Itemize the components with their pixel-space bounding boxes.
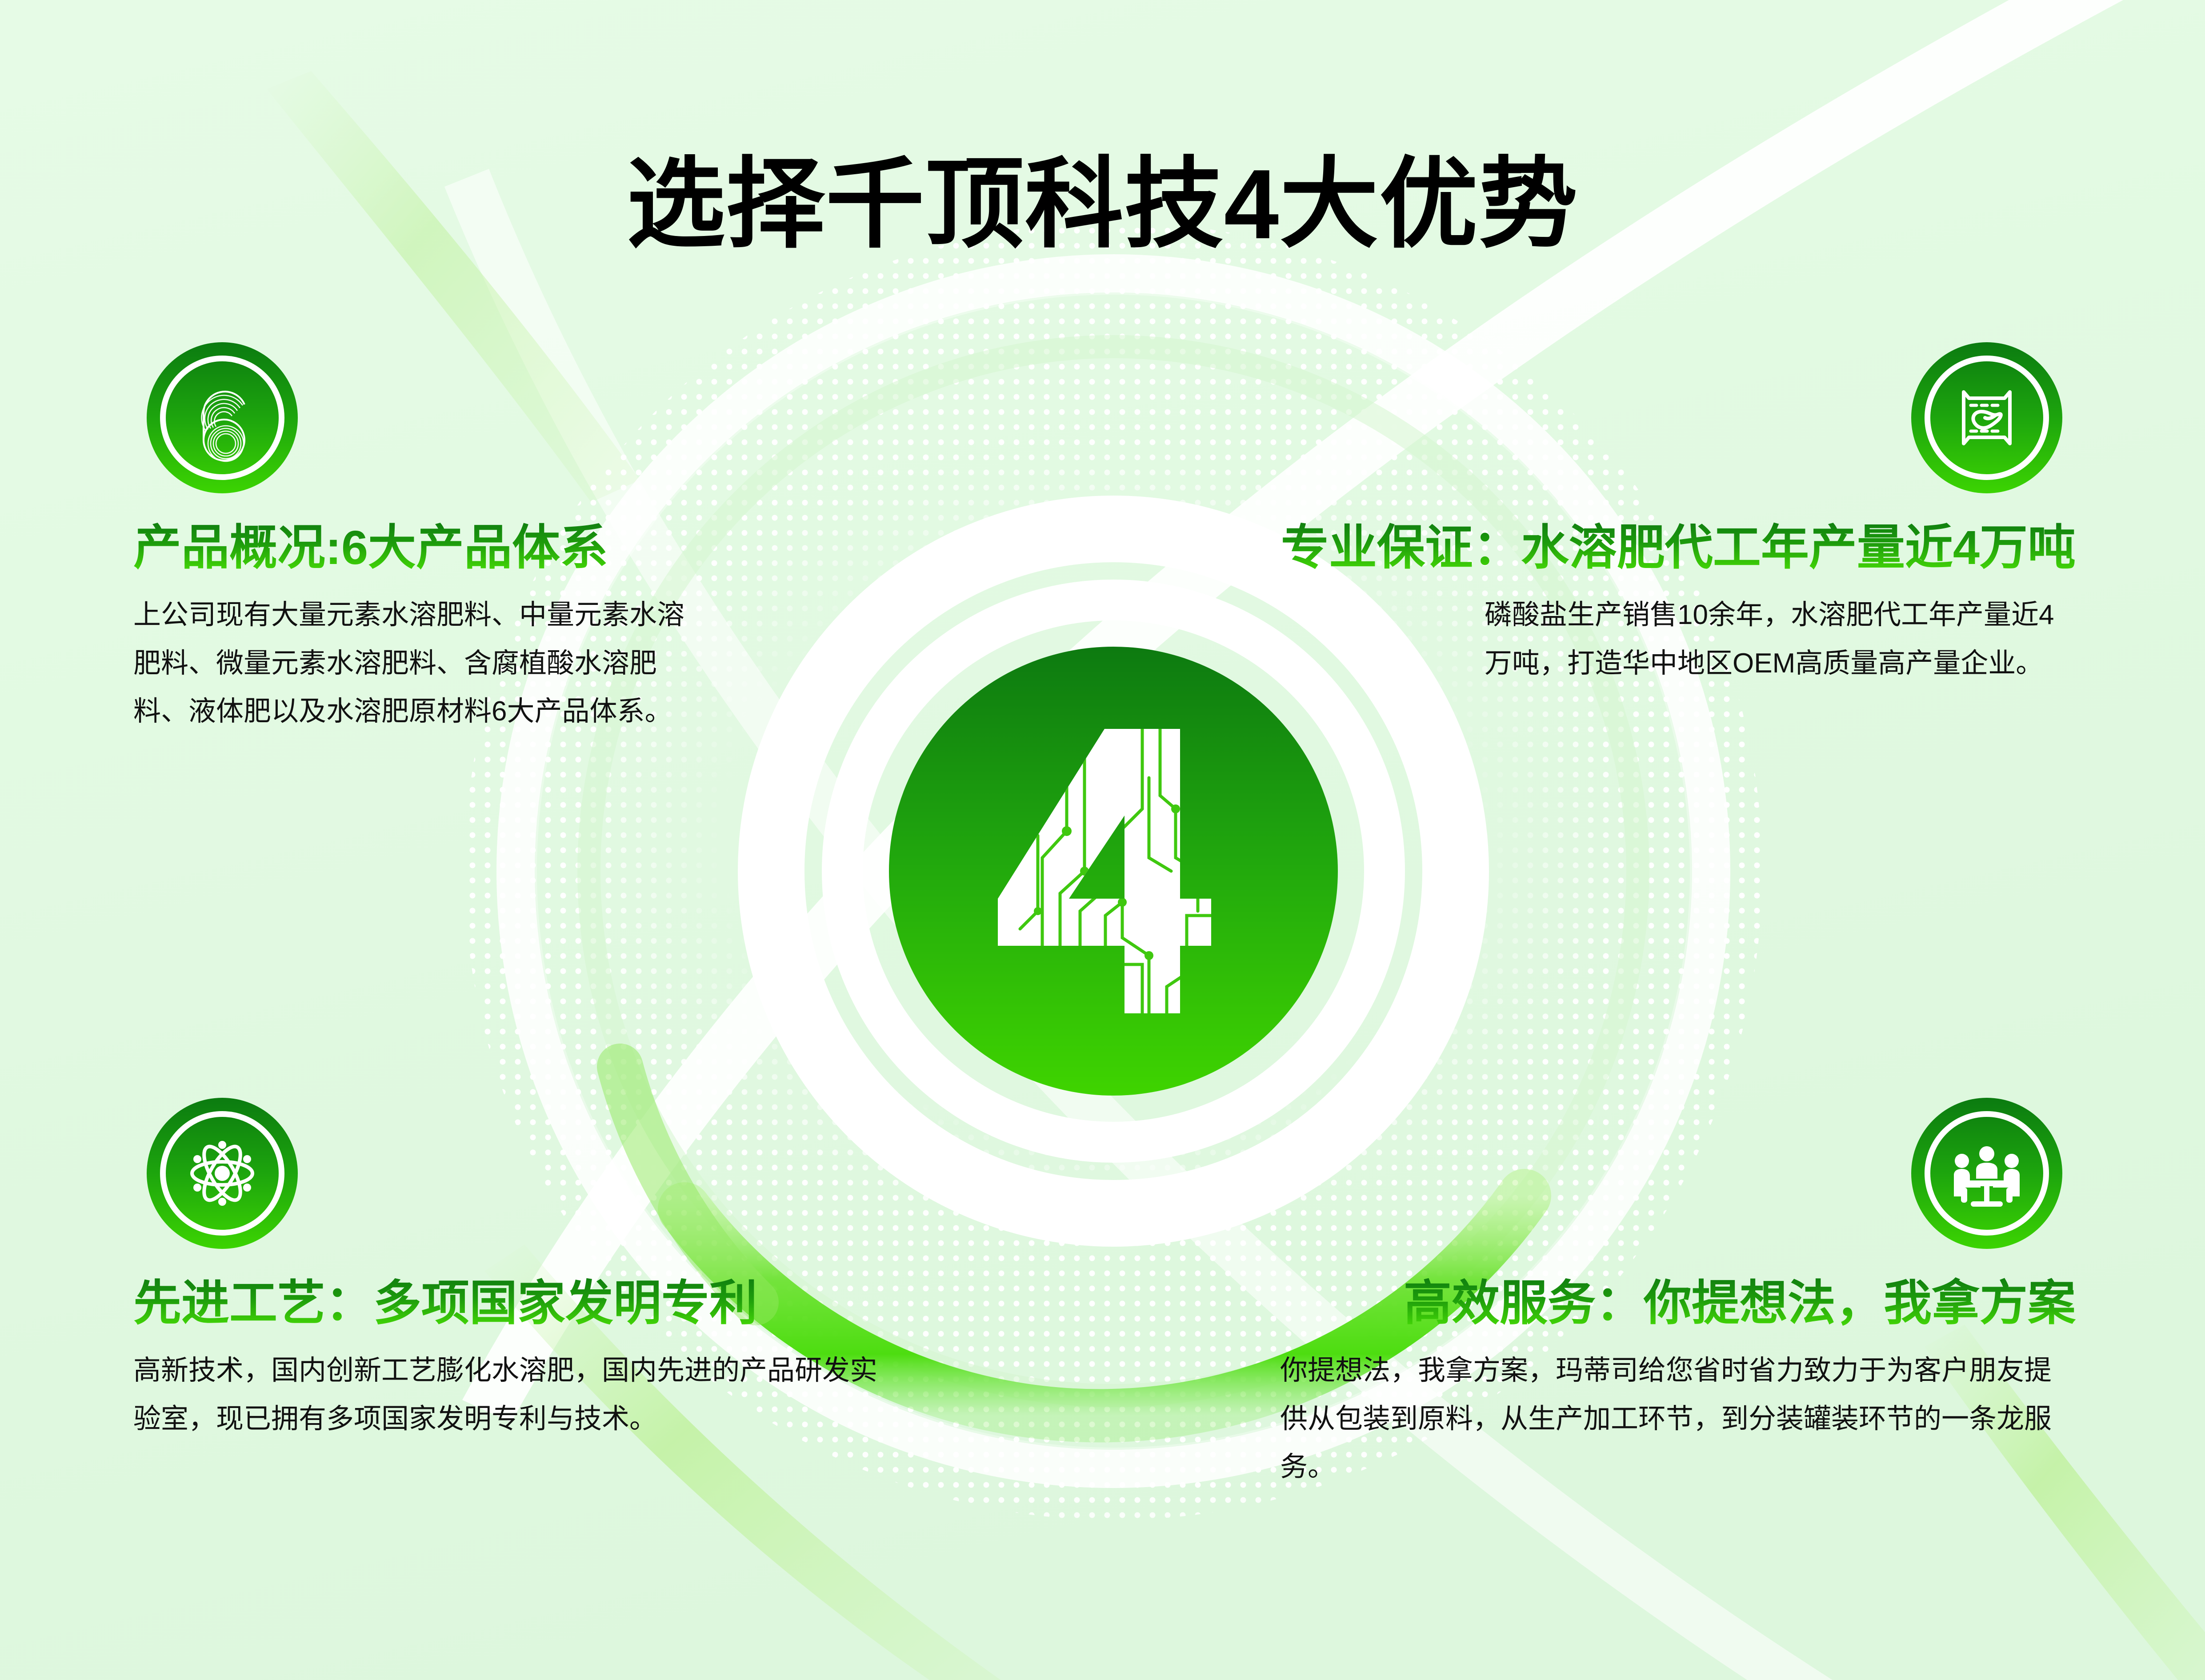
advantage-card-top-right: 专业保证：水溶肥代工年产量近4万吨 磷酸盐生产销售10余年，水溶肥代工年产量近4… <box>1191 342 2076 688</box>
advantage-card-bottom-left: 先进工艺：多项国家发明专利 高新技术，国内创新工艺膨化水溶肥，国内先进的产品研发… <box>133 1098 933 1443</box>
advantage-card-top-left: 产品概况:6大产品体系 上公司现有大量元素水溶肥料、中量元素水溶肥料、微量元素水… <box>133 342 720 736</box>
circuit-four-icon <box>889 647 1338 1096</box>
page-title: 选择千顶科技4大优势 <box>0 153 2205 256</box>
advantage-body: 上公司现有大量元素水溶肥料、中量元素水溶肥料、微量元素水溶肥料、含腐植酸水溶肥料… <box>133 591 702 736</box>
advantage-heading: 高效服务：你提想法，我拿方案 <box>1258 1276 2076 1331</box>
fertilizer-bag-icon <box>1911 342 2062 493</box>
advantage-heading: 产品概况:6大产品体系 <box>133 520 720 575</box>
atom-icon <box>147 1098 298 1249</box>
advantage-card-bottom-right: 高效服务：你提想法，我拿方案 你提想法，我拿方案，玛蒂司给您省时省力致力于为客户… <box>1258 1098 2076 1492</box>
advantage-heading: 先进工艺：多项国家发明专利 <box>133 1276 933 1331</box>
number-six-spiral-icon <box>147 342 298 493</box>
advantage-body: 你提想法，我拿方案，玛蒂司给您省时省力致力于为客户朋友提供从包装到原料，从生产加… <box>1280 1347 2076 1492</box>
meeting-table-icon <box>1911 1098 2062 1249</box>
advantage-body: 高新技术，国内创新工艺膨化水溶肥，国内先进的产品研发实验室，现已拥有多项国家发明… <box>133 1347 898 1443</box>
advantage-body: 磷酸盐生产销售10余年，水溶肥代工年产量近4万吨，打造华中地区OEM高质量高产量… <box>1485 591 2076 688</box>
center-number-emblem <box>889 647 1338 1096</box>
advantage-heading: 专业保证：水溶肥代工年产量近4万吨 <box>1191 520 2076 575</box>
